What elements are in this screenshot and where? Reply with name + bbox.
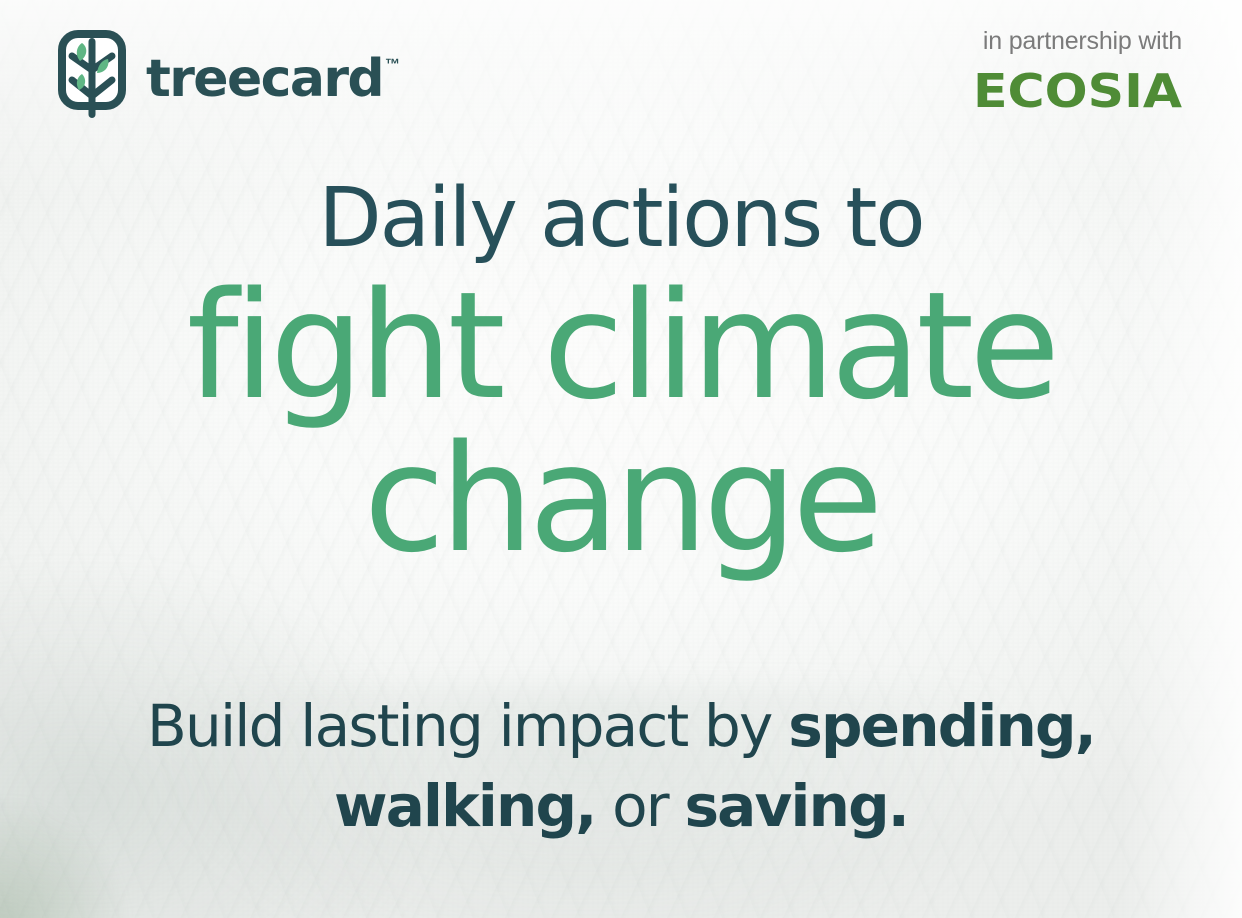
subtitle-connector-or: or — [595, 772, 684, 840]
subtitle-emphasis-saving: saving. — [684, 772, 908, 840]
treecard-brand-lockup[interactable]: treecard ™ — [58, 30, 400, 127]
partnership-block: in partnership with ECOSIA — [983, 28, 1182, 114]
subtitle-regular-text: Build lasting impact by — [147, 692, 788, 760]
headline-line-1: Daily actions to — [0, 176, 1242, 263]
treecard-wordmark: treecard ™ — [146, 53, 400, 105]
treecard-wordmark-text: treecard — [146, 53, 383, 105]
headline-line-3: change — [0, 412, 1242, 587]
subtitle-emphasis-walking: walking, — [334, 772, 596, 840]
treecard-tree-icon — [58, 30, 126, 127]
headline-line-2: fight climate — [0, 259, 1242, 434]
subtitle-line-1: Build lasting impact by spending, — [0, 686, 1242, 766]
subtitle-emphasis-spending: spending, — [788, 692, 1095, 760]
partnership-label: in partnership with — [983, 28, 1182, 56]
ecosia-logo[interactable]: ECOSIA — [963, 68, 1182, 114]
subtitle-line-2: walking, or saving. — [0, 766, 1242, 846]
promo-poster: treecard ™ in partnership with ECOSIA Da… — [0, 0, 1242, 918]
trademark-symbol: ™ — [385, 57, 400, 72]
headline-block: Daily actions to fight climate change — [0, 176, 1242, 586]
subtitle-block: Build lasting impact by spending, walkin… — [0, 686, 1242, 846]
